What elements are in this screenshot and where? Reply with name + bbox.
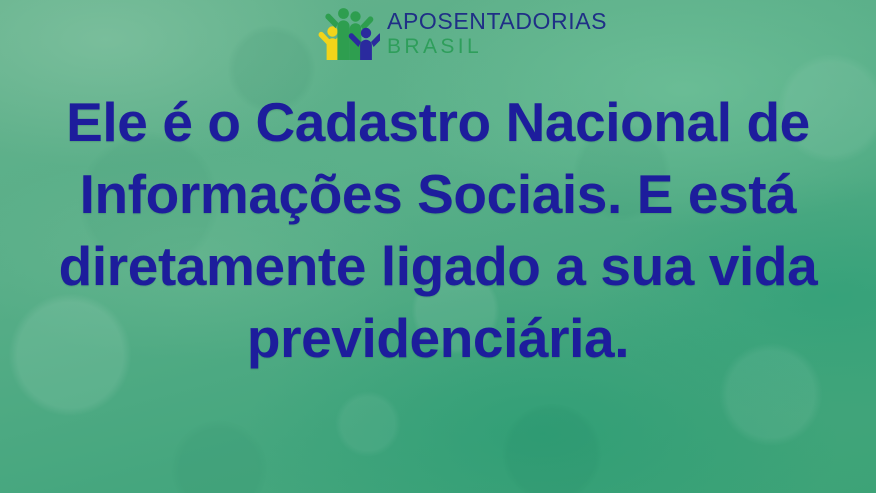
- brand-wordmark-secondary: BRASIL: [387, 36, 607, 57]
- brand-logo[interactable]: APOSENTADORIAS BRASIL: [318, 4, 607, 62]
- brand-wordmark-primary: APOSENTADORIAS: [387, 10, 607, 33]
- headline-line-3: diretamente ligado a sua vida: [18, 230, 858, 302]
- promotional-banner: APOSENTADORIAS BRASIL Ele é o Cadastro N…: [0, 0, 876, 493]
- headline-line-2: Informações Sociais. E está: [18, 158, 858, 230]
- headline-line-1: Ele é o Cadastro Nacional de: [18, 86, 858, 158]
- brand-wordmark: APOSENTADORIAS BRASIL: [387, 10, 607, 57]
- headline-block: Ele é o Cadastro Nacional de Informações…: [0, 86, 876, 374]
- headline-line-4: previdenciária.: [18, 302, 858, 374]
- three-people-figures-icon: [318, 4, 380, 62]
